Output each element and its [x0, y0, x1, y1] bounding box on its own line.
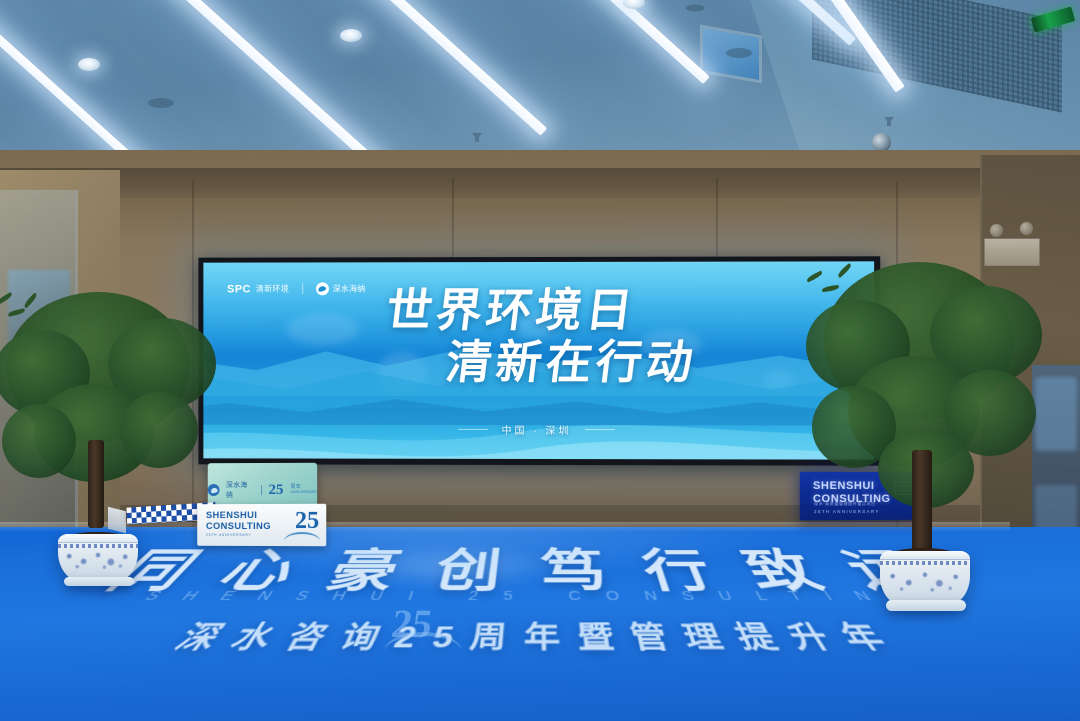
screen-title-line2: 清新在行动 — [443, 340, 699, 386]
screen-subtitle-block: 中国 · 深圳 — [203, 421, 874, 440]
downlight-icon — [340, 29, 362, 42]
planter-rim — [880, 551, 970, 560]
podium-anniversary-sub-en: ANNIVERSARY — [291, 491, 318, 495]
subtitle-rule-right — [585, 429, 615, 430]
banner-left-line2: CONSULTING — [206, 521, 271, 532]
sprinkler-icon — [472, 133, 482, 142]
wall-seam — [452, 178, 454, 268]
wall-speaker-icon — [1020, 222, 1033, 235]
podium-left-logo-row: 深水海纳 25 周年 ANNIVERSARY — [208, 480, 317, 500]
porcelain-planter-left — [58, 534, 138, 582]
tree-trunk — [912, 450, 932, 552]
porcelain-planter-right — [880, 551, 970, 606]
wall-soffit-shadow — [0, 168, 1010, 198]
podium-anniversary-number: 25 — [269, 482, 284, 497]
banner-right-subline: 25TH ANNIVERSARY — [814, 509, 880, 514]
banner-left-shenshui: SHENSHUI CONSULTING 25TH ANNIVERSARY 25 — [197, 504, 326, 546]
led-strip-light-icon — [134, 0, 386, 174]
foliage-blob — [2, 404, 76, 478]
downlight-icon — [78, 58, 100, 71]
subtitle-rule-left — [458, 429, 488, 430]
led-strip-light-icon — [303, 0, 547, 136]
water-drop-circle-icon — [208, 484, 219, 496]
tree-trunk — [88, 440, 104, 528]
door-reflection — [1035, 377, 1077, 451]
screen-title-block: 世界环境日 清新在行动 — [203, 288, 874, 387]
banner-left-line1: SHENSHUI — [206, 510, 271, 521]
planter-saucer-left — [64, 577, 134, 586]
led-screen-content: SPC 清新环境 深水海纳 世界环境日 清新在行动 中国 · 深圳 — [203, 261, 874, 459]
planter-rim — [58, 534, 138, 543]
planter-pattern — [58, 544, 138, 573]
podium-company-cn: 深水海纳 — [226, 480, 254, 500]
lobby-photo-scene: SPC 清新环境 深水海纳 世界环境日 清新在行动 中国 · 深圳 — [0, 0, 1080, 721]
planter-pattern — [880, 561, 970, 597]
banner-right-line1: SHENSHUI — [813, 480, 891, 493]
smoke-detector-icon — [686, 5, 704, 12]
floor-caption-text: 深水咨询25周年暨管理提升年 — [0, 614, 1080, 656]
wall-speaker-icon — [990, 224, 1003, 237]
floor-gloss-reflection — [330, 543, 570, 591]
banner-left-text: SHENSHUI CONSULTING — [206, 510, 271, 532]
smoke-detector-icon — [148, 98, 174, 108]
screen-title-line1: 世界环境日 — [383, 288, 638, 334]
podium-divider — [261, 485, 262, 495]
foliage-blob — [120, 392, 198, 468]
planter-saucer-right — [886, 600, 966, 611]
smoke-detector-icon — [726, 48, 752, 58]
checker-panel-side — [108, 507, 126, 533]
banner-left-subline: 25TH ANNIVERSARY — [206, 533, 252, 537]
wall-plaque — [984, 238, 1040, 266]
downlight-icon — [623, 0, 645, 9]
banner-right-cn-line: 深水·高质量管理提升重点项目 — [814, 501, 876, 507]
led-video-wall[interactable]: SPC 清新环境 深水海纳 世界环境日 清新在行动 中国 · 深圳 — [198, 256, 880, 465]
screen-subtitle: 中国 · 深圳 — [502, 426, 572, 437]
led-strip-light-icon — [480, 0, 710, 84]
banner-left-anniversary-number: 25 — [295, 509, 319, 533]
